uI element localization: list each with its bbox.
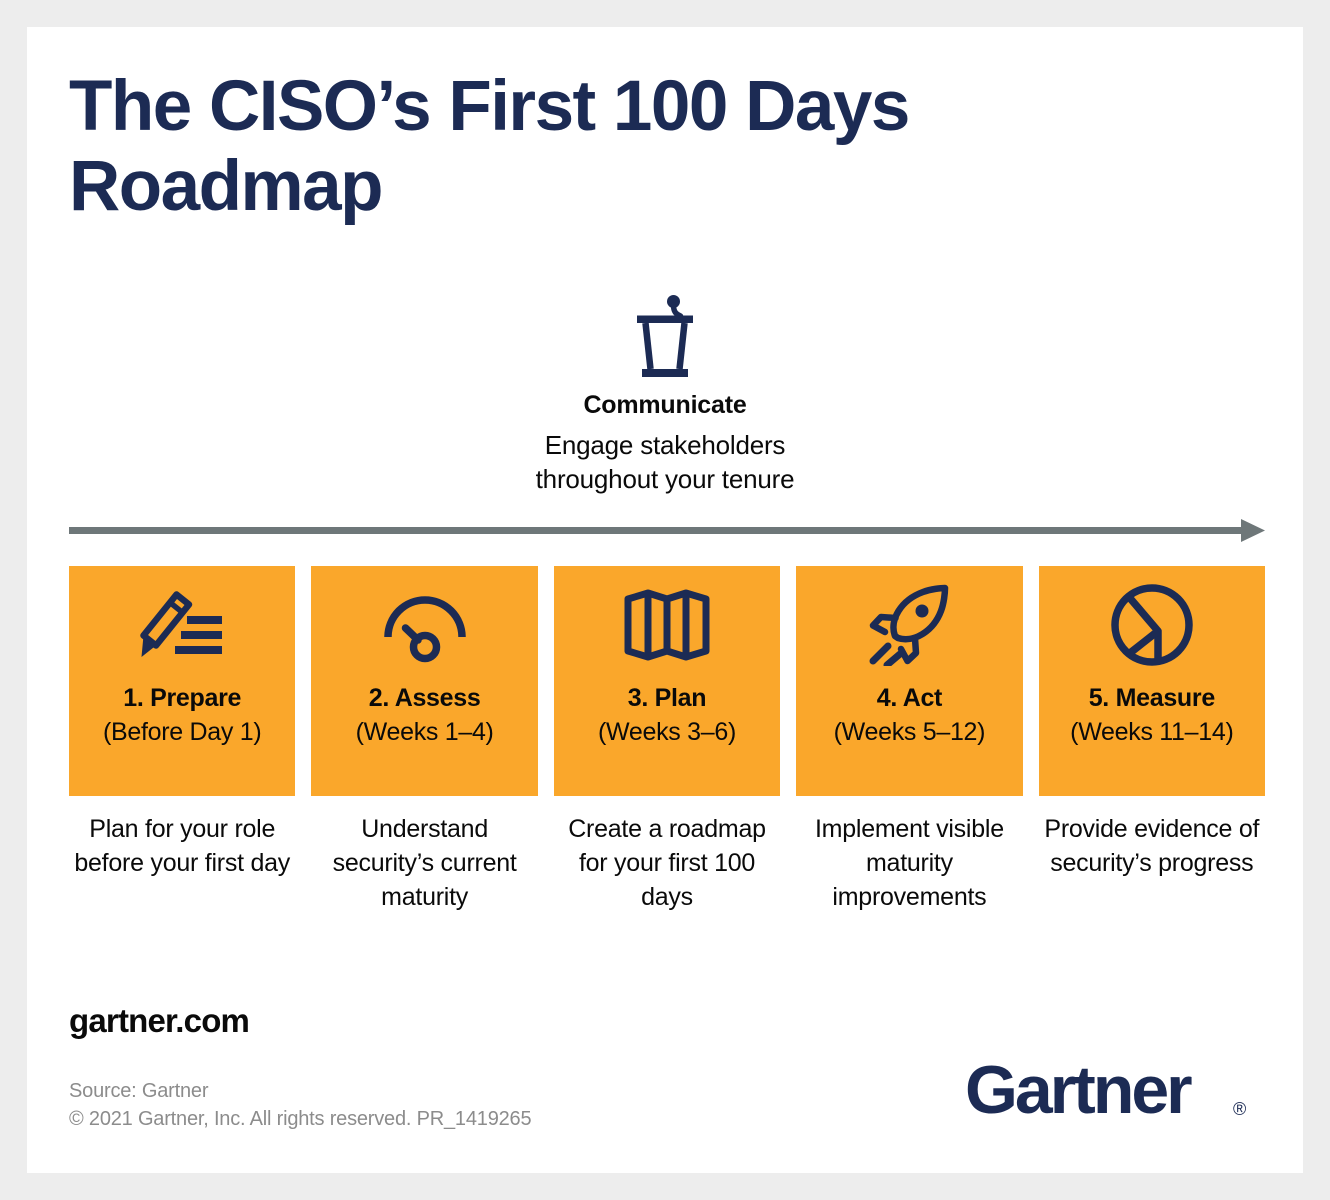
step-card-prepare[interactable]: 1. Prepare (Before Day 1) — [69, 566, 295, 796]
podium-icon — [27, 295, 1303, 379]
step-title: 3. Plan — [628, 684, 707, 713]
step-description: Provide evidence of security’s progress — [1039, 812, 1265, 914]
source-line: Source: Gartner — [69, 1077, 531, 1105]
page-title: The CISO’s First 100 Days Roadmap — [69, 67, 1169, 226]
copyright-line: © 2021 Gartner, Inc. All rights reserved… — [69, 1105, 531, 1133]
pie-chart-icon — [1110, 566, 1194, 684]
step-timeframe: (Weeks 3–6) — [598, 718, 736, 747]
gartner-logo: Gartner ® — [965, 1055, 1265, 1130]
step-card-plan[interactable]: 3. Plan (Weeks 3–6) — [554, 566, 780, 796]
communicate-title: Communicate — [27, 391, 1303, 420]
step-descriptions-row: Plan for your role before your first day… — [69, 812, 1265, 914]
step-description: Plan for your role before your first day — [69, 812, 295, 914]
step-description: Understand security’s current maturity — [311, 812, 537, 914]
step-title: 2. Assess — [369, 684, 481, 713]
svg-text:Gartner: Gartner — [965, 1055, 1192, 1128]
step-timeframe: (Weeks 1–4) — [356, 718, 494, 747]
step-timeframe: (Before Day 1) — [103, 718, 261, 747]
communicate-description-line1: Engage stakeholders — [27, 428, 1303, 462]
pencil-write-icon — [140, 566, 224, 684]
step-title: 1. Prepare — [123, 684, 241, 713]
communicate-description: Engage stakeholders throughout your tenu… — [27, 428, 1303, 497]
gauge-icon — [382, 566, 468, 684]
step-title: 4. Act — [877, 684, 942, 713]
step-card-assess[interactable]: 2. Assess (Weeks 1–4) — [311, 566, 537, 796]
timeline-arrow — [69, 517, 1265, 545]
step-timeframe: (Weeks 11–14) — [1070, 718, 1233, 747]
communicate-section: Communicate Engage stakeholders througho… — [27, 295, 1303, 497]
step-card-measure[interactable]: 5. Measure (Weeks 11–14) — [1039, 566, 1265, 796]
site-url[interactable]: gartner.com — [69, 1002, 249, 1040]
communicate-description-line2: throughout your tenure — [27, 462, 1303, 496]
source-attribution: Source: Gartner © 2021 Gartner, Inc. All… — [69, 1077, 531, 1134]
infographic-canvas: The CISO’s First 100 Days Roadmap Commun… — [27, 27, 1303, 1173]
svg-text:®: ® — [1233, 1099, 1246, 1119]
rocket-icon — [865, 566, 953, 684]
steps-row: 1. Prepare (Before Day 1) 2. Assess (Wee… — [69, 566, 1265, 796]
step-title: 5. Measure — [1089, 684, 1215, 713]
step-timeframe: (Weeks 5–12) — [834, 718, 986, 747]
step-description: Implement visible maturity improvements — [796, 812, 1022, 914]
step-description: Create a roadmap for your first 100 days — [554, 812, 780, 914]
step-card-act[interactable]: 4. Act (Weeks 5–12) — [796, 566, 1022, 796]
folded-map-icon — [624, 566, 710, 684]
